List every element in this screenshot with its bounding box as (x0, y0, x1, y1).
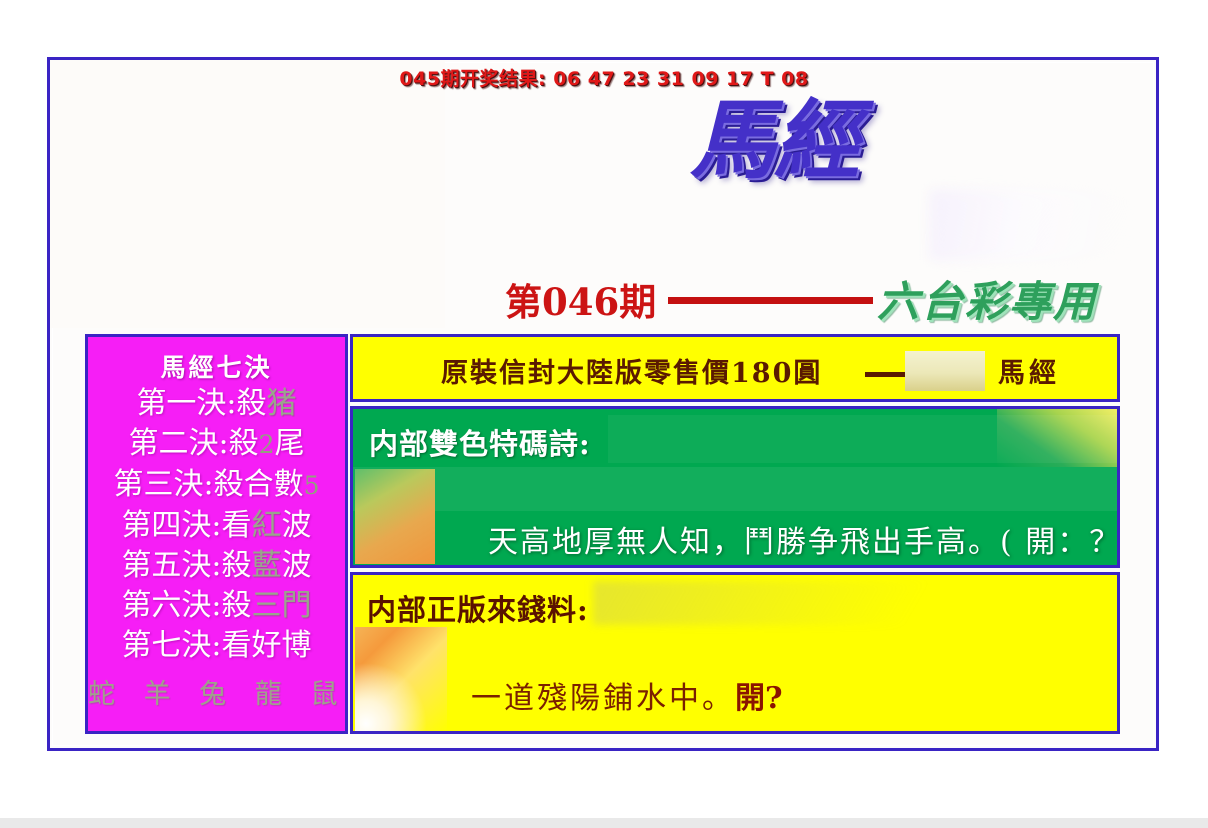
masthead: 馬經 第046期 六台彩專用 爲打擊黑莊特出精准猛料，如有所得切勿外傳，切記！切… (50, 60, 1156, 328)
price-banner-inner: 原裝信封大陸版零售價180圓 馬經 (353, 337, 1117, 399)
yellow-title-masked-region (593, 581, 1113, 625)
decree-row-2: 第二決:殺2尾 (88, 424, 345, 465)
price-masked-region (905, 351, 985, 391)
lottery-result-text: 045期开奖结果: 06 47 23 31 09 17 T 08 (399, 68, 808, 90)
yellow-gradient-left (355, 627, 447, 732)
price-brand-label: 馬經 (998, 351, 1060, 390)
decree-prefix: 第四決:看 (121, 508, 251, 543)
yellow-poem-block: 内部正版來錢料: 一道殘陽鋪水中。開? (350, 572, 1120, 734)
decree-prefix: 第七決:看好博 (121, 628, 311, 663)
decree-highlight: 紅 (252, 508, 282, 543)
decree-row-5: 第五決:殺藍波 (88, 546, 345, 586)
decree-prefix: 第六決:殺 (121, 588, 251, 623)
green-poem-block: 内部雙色特碼詩: 天高地厚無人知，鬥勝争飛出手高。( 開：？ ) (350, 406, 1120, 568)
brand-smudge-overlay (930, 190, 1130, 260)
right-column: 原裝信封大陸版零售價180圓 馬經 内部雙色特碼詩: 天高地厚無人知，鬥勝争飛出… (350, 334, 1120, 734)
decree-prefix: 第三決:殺合數 (113, 467, 303, 502)
issue-number-label: 第046期 (505, 272, 656, 326)
issue-tagline: 六台彩專用 (877, 268, 1097, 328)
decree-row-4: 第四決:看紅波 (88, 506, 345, 546)
decree-row-7: 第七決:看好博 (88, 626, 345, 666)
yellow-block-title: 内部正版來錢料: (367, 587, 589, 629)
green-title-masked-region (608, 415, 1120, 463)
price-text: 原裝信封大陸版零售價180圓 (441, 351, 822, 390)
green-gradient-left (355, 469, 435, 564)
decree-prefix: 第二決:殺 (128, 426, 258, 461)
page-canvas: 045期开奖结果: 06 47 23 31 09 17 T 08 馬經 第046… (0, 0, 1208, 828)
green-block-poem: 天高地厚無人知，鬥勝争飛出手高。( 開：？ ) (488, 517, 1120, 561)
decree-row-1: 第一決:殺猪 (88, 384, 345, 424)
price-banner: 原裝信封大陸版零售價180圓 馬經 (350, 334, 1120, 402)
decree-prefix: 第一決:殺 (136, 386, 266, 421)
decree-suffix: 尾 (275, 426, 305, 461)
masthead-blank-area (50, 60, 445, 328)
seven-decree-panel: 馬經七決 第一決:殺猪 第二決:殺2尾 第三決:殺合數5 第四決:看紅波 第五決… (85, 334, 348, 734)
green-block-title: 内部雙色特碼詩: (369, 421, 591, 463)
decree-prefix: 第五決:殺 (121, 548, 251, 583)
decree-highlight: 藍 (252, 548, 282, 583)
decree-row-3: 第三決:殺合數5 (88, 465, 345, 506)
decree-highlight: 5 (304, 471, 320, 500)
decree-suffix: 波 (282, 508, 312, 543)
decree-highlight: 2 (259, 430, 275, 459)
yellow-poem-open-label: 開? (735, 681, 783, 716)
decree-highlight: 三門 (252, 588, 312, 623)
issue-divider-rule (668, 297, 873, 304)
green-band-overlay (353, 467, 1117, 511)
decree-suffix: 波 (282, 548, 312, 583)
content-area: 馬經七決 第一決:殺猪 第二決:殺2尾 第三決:殺合數5 第四決:看紅波 第五決… (85, 334, 1120, 734)
decree-highlight: 猪 (267, 386, 297, 421)
yellow-block-poem: 一道殘陽鋪水中。開? (471, 673, 783, 717)
lottery-result-strip: 045期开奖结果: 06 47 23 31 09 17 T 08 (0, 64, 1208, 91)
seven-decree-title: 馬經七決 (88, 348, 345, 384)
zodiac-row: 蛇 羊 兔 龍 鼠 (88, 672, 345, 711)
bottom-gray-strip (0, 818, 1208, 828)
issue-row: 第046期 六台彩專用 (505, 272, 1156, 328)
yellow-poem-line: 一道殘陽鋪水中。 (471, 681, 735, 716)
decree-row-6: 第六決:殺三門 (88, 586, 345, 626)
brand-logo-text: 馬經 (690, 98, 858, 184)
